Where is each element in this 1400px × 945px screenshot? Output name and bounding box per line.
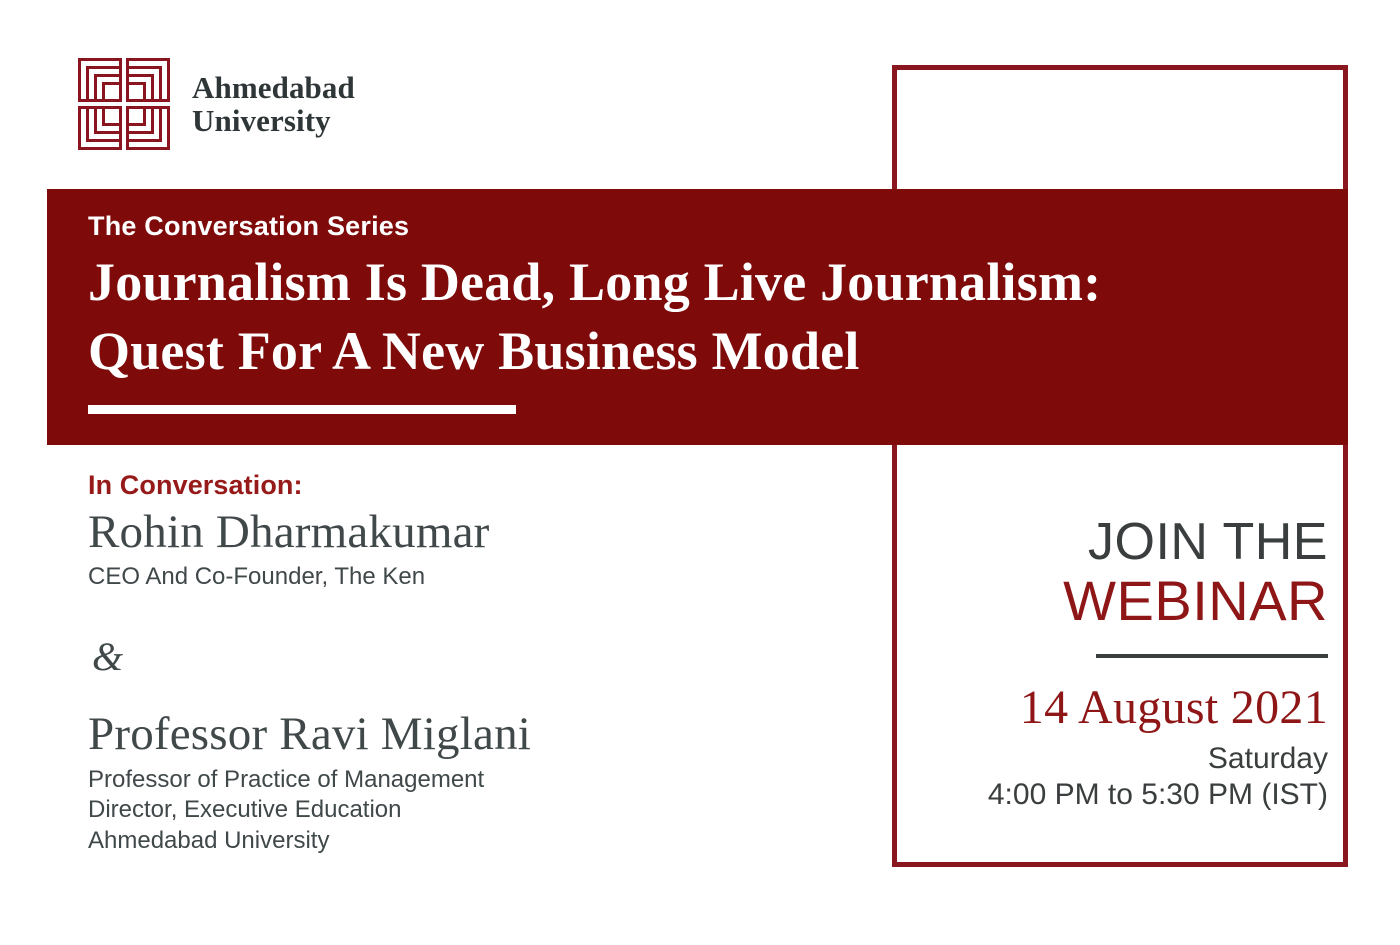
- speaker-role: Professor of Practice of Management: [88, 765, 848, 796]
- brand-wordmark-line1: Ahmedabad: [192, 71, 355, 104]
- event-time: 4:00 PM to 5:30 PM (IST): [912, 777, 1328, 814]
- logo-quadrant-bottom-left: [78, 106, 122, 150]
- in-conversation-heading: In Conversation:: [88, 470, 848, 501]
- webinar-poster: Ahmedabad University The Conversation Se…: [0, 0, 1400, 945]
- brand-wordmark-line2: University: [192, 104, 355, 137]
- speaker-name: Rohin Dharmakumar: [88, 505, 848, 560]
- webinar-details-panel: JOIN THE WEBINAR 14 August 2021 Saturday…: [912, 515, 1328, 814]
- page-title: Journalism Is Dead, Long Live Journalism…: [88, 248, 1348, 385]
- speaker-entry-1: Rohin Dharmakumar CEO And Co-Founder, Th…: [88, 505, 848, 593]
- logo-quadrant-top-left: [78, 58, 122, 102]
- conjunction-ampersand: &: [92, 637, 848, 677]
- speakers-section: In Conversation: Rohin Dharmakumar CEO A…: [88, 470, 848, 857]
- logo-quadrant-top-right: [126, 58, 170, 102]
- logo-quadrant-bottom-right: [126, 106, 170, 150]
- brand-wordmark: Ahmedabad University: [192, 71, 355, 138]
- event-date: 14 August 2021: [912, 682, 1328, 735]
- join-the-label: JOIN THE: [912, 515, 1328, 570]
- speaker-role: Director, Executive Education: [88, 795, 848, 826]
- title-underline-rule: [88, 405, 516, 414]
- brand-logo-block: Ahmedabad University: [78, 58, 355, 150]
- series-label: The Conversation Series: [88, 211, 1348, 242]
- speaker-entry-2: Professor Ravi Miglani Professor of Prac…: [88, 707, 848, 857]
- event-day: Saturday: [912, 741, 1328, 778]
- panel-divider-rule: [1096, 654, 1328, 658]
- webinar-label: WEBINAR: [912, 570, 1328, 632]
- speaker-role: Ahmedabad University: [88, 826, 848, 857]
- speaker-name: Professor Ravi Miglani: [88, 707, 848, 762]
- speaker-role: CEO And Co-Founder, The Ken: [88, 562, 848, 593]
- ahmedabad-university-logo-icon: [78, 58, 170, 150]
